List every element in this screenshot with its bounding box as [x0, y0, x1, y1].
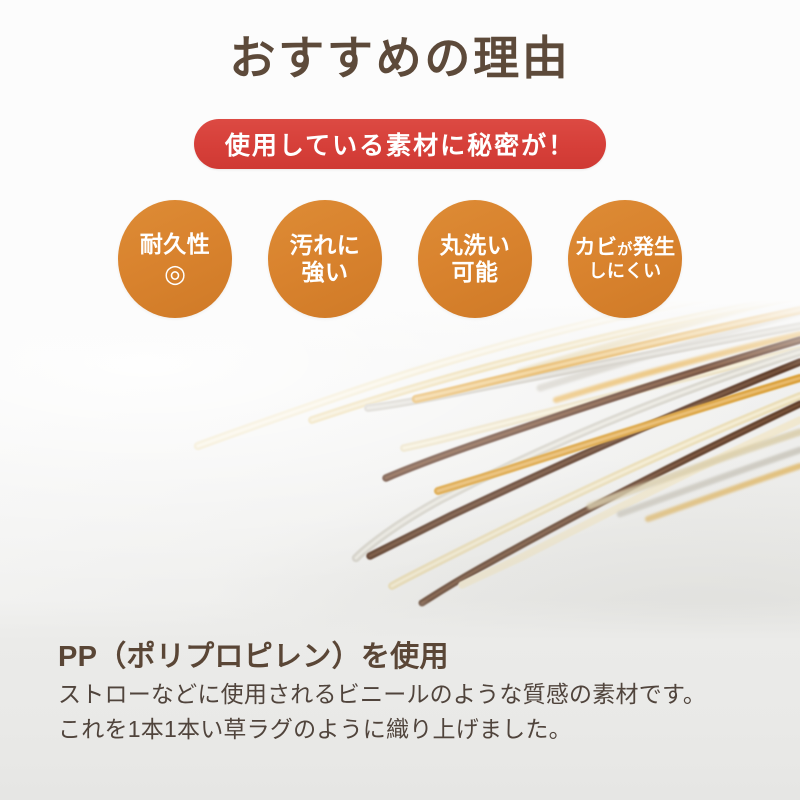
- feature-label-line2: 可能: [452, 259, 499, 286]
- fiber-strands-illustration: [0, 300, 800, 640]
- material-description-line1: ストローなどに使用されるビニールのような質感の素材です。: [58, 677, 706, 712]
- feature-label-line2: 強い: [302, 259, 349, 286]
- feature-label-line2: しにくい: [588, 261, 661, 282]
- feature-label-line1: カビが発生: [574, 236, 675, 261]
- feature-label-line1: 耐久性: [140, 231, 210, 258]
- double-circle-icon: ◎: [164, 262, 186, 287]
- feature-circle-mold-resistant: カビが発生 しにくい: [568, 200, 682, 318]
- feature-label-line1: 汚れに: [290, 232, 360, 259]
- banner-label: 使用している素材に秘密が！: [225, 126, 575, 162]
- feature-circle-row: 耐久性 ◎ 汚れに 強い 丸洗い 可能 カビが発生 しにくい: [0, 200, 800, 322]
- feature-label-line1-a: カビ: [574, 236, 617, 259]
- feature-label-line1-b: が: [617, 241, 632, 258]
- feature-label-line1: 丸洗い: [440, 232, 510, 259]
- material-description-line2: これを1本1本い草ラグのように織り上げました。: [58, 712, 706, 747]
- secret-material-banner: 使用している素材に秘密が！: [194, 119, 606, 169]
- feature-circle-washable: 丸洗い 可能: [418, 200, 532, 318]
- material-heading: PP（ポリプロピレン）を使用: [58, 633, 449, 675]
- page-title: おすすめの理由: [0, 32, 800, 85]
- material-description: ストローなどに使用されるビニールのような質感の素材です。 これを1本1本い草ラグ…: [58, 677, 706, 747]
- product-feature-poster: おすすめの理由 使用している素材に秘密が！ 耐久性 ◎ 汚れに 強い 丸洗い 可…: [0, 0, 800, 800]
- feature-circle-stain-resistant: 汚れに 強い: [268, 200, 382, 318]
- pp-fiber-strands-photo: [0, 300, 800, 640]
- feature-label-line1-c: 発生: [633, 236, 676, 259]
- feature-circle-durability: 耐久性 ◎: [118, 200, 232, 318]
